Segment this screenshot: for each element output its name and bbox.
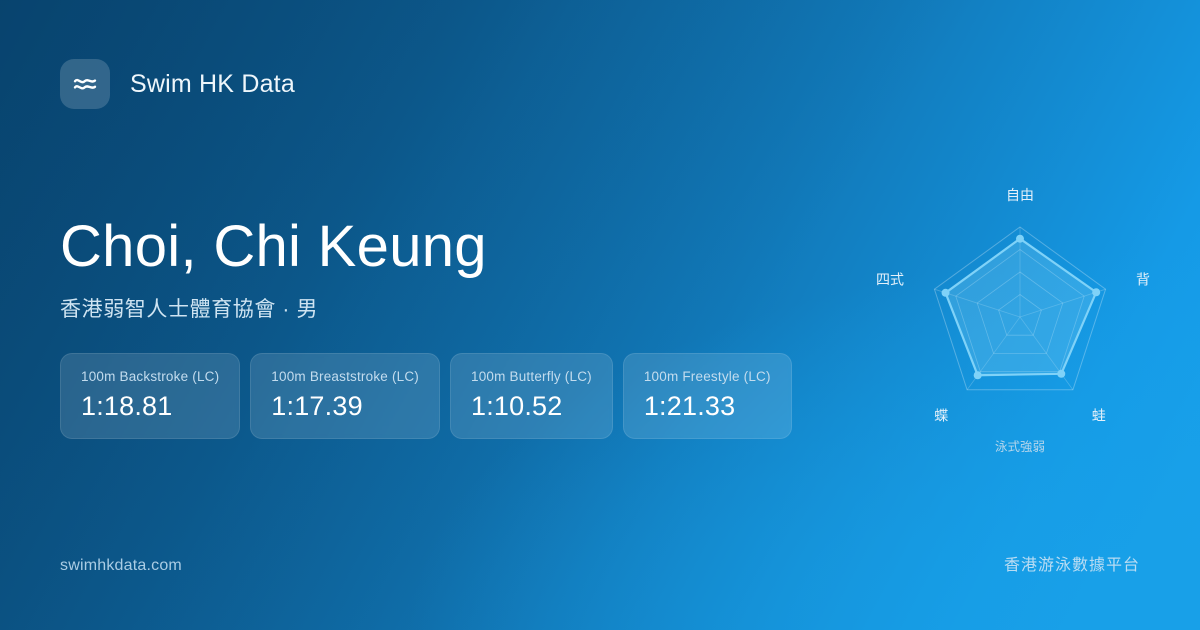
stat-card[interactable]: 100m Freestyle (LC) 1:21.33	[623, 353, 792, 439]
page-title: Choi, Chi Keung	[60, 216, 487, 279]
stat-card-value: 1:18.81	[81, 391, 219, 422]
stat-card-label: 100m Backstroke (LC)	[81, 369, 219, 384]
social-share-card: Swim HK Data Choi, Chi Keung 香港弱智人士體育協會 …	[0, 0, 1200, 630]
footer-tagline: 香港游泳數據平台	[1004, 551, 1140, 575]
radar-axis-label: 蛙	[1092, 408, 1106, 424]
stat-card[interactable]: 100m Backstroke (LC) 1:18.81	[60, 353, 240, 439]
radar-data-point	[974, 371, 982, 379]
radar-chart: 自由背蛙蝶四式 泳式強弱	[870, 170, 1170, 470]
radar-data-point	[942, 289, 950, 297]
wave-icon	[60, 59, 110, 109]
footer-site-url[interactable]: swimhkdata.com	[60, 557, 182, 575]
radar-series-area	[946, 239, 1097, 376]
stat-card-label: 100m Butterfly (LC)	[471, 369, 592, 384]
stat-card-label: 100m Freestyle (LC)	[644, 369, 771, 384]
hero: Choi, Chi Keung 香港弱智人士體育協會 · 男	[60, 216, 487, 323]
stat-card-list: 100m Backstroke (LC) 1:18.81 100m Breast…	[60, 353, 792, 439]
stat-card-value: 1:10.52	[471, 391, 592, 422]
stat-card-value: 1:17.39	[271, 391, 419, 422]
stat-card-value: 1:21.33	[644, 391, 771, 422]
stat-card[interactable]: 100m Butterfly (LC) 1:10.52	[450, 353, 613, 439]
radar-axis-label: 蝶	[934, 408, 948, 424]
radar-caption: 泳式強弱	[995, 440, 1045, 454]
radar-axis-label: 自由	[1006, 187, 1034, 203]
stat-card-label: 100m Breaststroke (LC)	[271, 369, 419, 384]
radar-data-point	[1092, 288, 1100, 296]
radar-data-point	[1016, 235, 1024, 243]
brand-name: Swim HK Data	[130, 70, 295, 99]
athlete-meta: 香港弱智人士體育協會 · 男	[60, 293, 487, 323]
radar-axis-label: 四式	[876, 271, 904, 287]
radar-data-point	[1057, 370, 1065, 378]
radar-axis-label: 背	[1136, 271, 1150, 287]
stat-card[interactable]: 100m Breaststroke (LC) 1:17.39	[250, 353, 440, 439]
brand[interactable]: Swim HK Data	[60, 59, 295, 109]
